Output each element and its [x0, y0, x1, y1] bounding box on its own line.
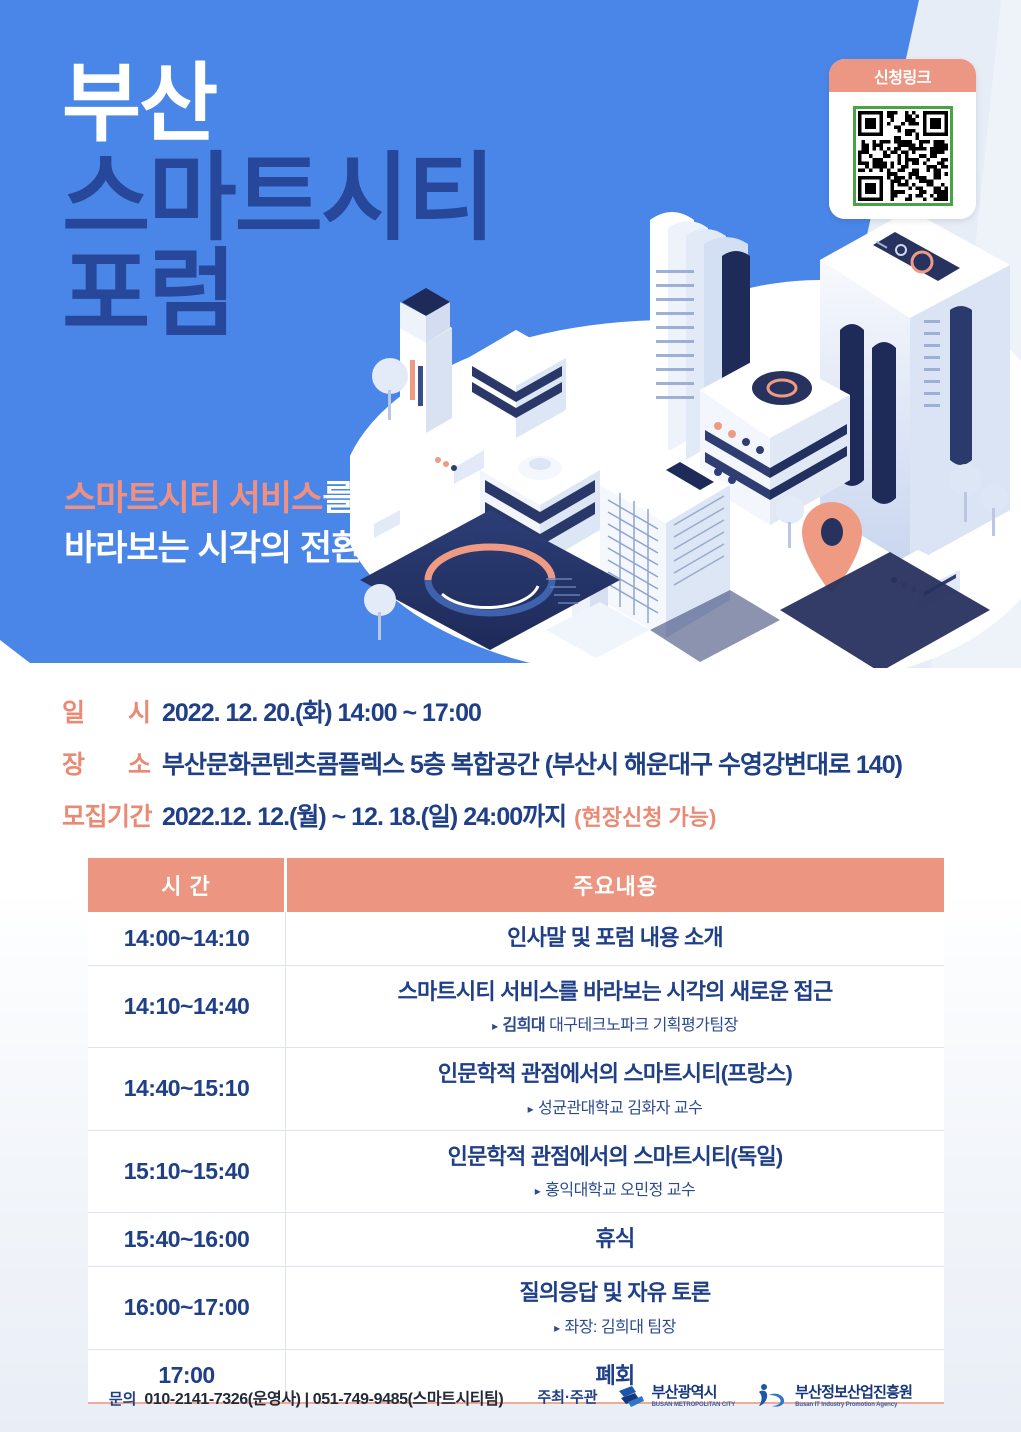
- poster: 부산 스마트시티 포럼 스마트시티 서비스를 바라보는 시각의 전환 신청링크 …: [0, 0, 1021, 1432]
- schedule-topic: 휴식: [292, 1225, 938, 1254]
- poster-title: 부산 스마트시티 포럼: [62, 62, 494, 342]
- schedule-row: 14:10~14:40스마트시티 서비스를 바라보는 시각의 새로운 접근▸ 김…: [88, 965, 944, 1048]
- schedule-cell-content: 휴식: [286, 1213, 945, 1267]
- schedule-topic: 질의응답 및 자유 토론: [292, 1279, 938, 1308]
- title-line-3: 포럼: [62, 248, 494, 342]
- bipa-emblem-icon: [755, 1383, 789, 1410]
- info-row-venue: 장 소 부산문화콘텐츠콤플렉스 5층 복합공간 (부산시 해운대구 수영강변대로…: [62, 745, 962, 781]
- schedule-speaker-affiliation: 홍익대학교 오민정 교수: [545, 1182, 695, 1199]
- subtitle-line-1: 스마트시티 서비스를: [64, 474, 362, 524]
- info-label-registration-period: 모집기간: [62, 797, 162, 833]
- schedule-cell-time: 16:00~17:00: [88, 1266, 286, 1349]
- subtitle-highlight: 스마트시티 서비스: [64, 479, 322, 518]
- info-value-datetime: 2022. 12. 20.(화) 14:00 ~ 17:00: [162, 693, 481, 729]
- schedule-row: 16:00~17:00질의응답 및 자유 토론▸ 좌장: 김희대 팀장: [88, 1266, 944, 1349]
- schedule-cell-content: 인문학적 관점에서의 스마트시티(프랑스)▸ 성균관대학교 김화자 교수: [286, 1048, 945, 1131]
- inquiry-label: 문의: [109, 1388, 137, 1409]
- info-value-venue: 부산문화콘텐츠콤플렉스 5층 복합공간 (부산시 해운대구 수영강변대로 140…: [162, 745, 902, 781]
- bullet-arrow-icon: ▸: [554, 1321, 562, 1335]
- schedule-speaker-affiliation: 성균관대학교 김화자 교수: [538, 1100, 702, 1117]
- schedule-cell-content: 인사말 및 포럼 내용 소개: [286, 912, 945, 965]
- schedule-speaker-name: 김희대: [502, 1017, 549, 1034]
- info-label-venue: 장 소: [62, 745, 162, 781]
- logo-busan-city: 부산광역시 BUSAN METROPOLITAN CITY: [616, 1384, 736, 1410]
- logo-bipa: 부산정보산업진흥원 Busan IT Industry Promotion Ag…: [755, 1383, 912, 1410]
- schedule-cell-time: 15:40~16:00: [88, 1213, 286, 1267]
- logo-busan-city-kr: 부산광역시: [652, 1385, 736, 1400]
- schedule-topic: 스마트시티 서비스를 바라보는 시각의 새로운 접근: [292, 978, 938, 1007]
- schedule-header-content: 주요내용: [286, 858, 945, 912]
- qr-frame: [853, 106, 953, 206]
- info-row-datetime: 일 시 2022. 12. 20.(화) 14:00 ~ 17:00: [62, 693, 962, 729]
- schedule-header-time: 시 간: [88, 858, 286, 912]
- schedule-speaker-affiliation: 좌장: 김희대 팀장: [564, 1319, 675, 1336]
- schedule-speaker-affiliation: 대구테크노파크 기획평가팀장: [549, 1017, 738, 1034]
- qr-code-icon: [858, 111, 948, 201]
- subtitle-particle: 를: [322, 479, 353, 518]
- info-row-registration-period: 모집기간 2022.12. 12.(월) ~ 12. 18.(일) 24:00까…: [62, 797, 962, 833]
- title-line-2: 스마트시티: [62, 152, 494, 246]
- schedule-topic: 인문학적 관점에서의 스마트시티(독일): [292, 1143, 938, 1172]
- schedule-body: 14:00~14:10인사말 및 포럼 내용 소개14:10~14:40스마트시…: [88, 912, 944, 1403]
- logo-bipa-text: 부산정보산업진흥원 Busan IT Industry Promotion Ag…: [795, 1385, 912, 1408]
- subtitle-line-2: 바라보는 시각의 전환: [64, 524, 362, 574]
- logo-busan-city-text: 부산광역시 BUSAN METROPOLITAN CITY: [652, 1385, 736, 1408]
- schedule-topic: 인사말 및 포럼 내용 소개: [292, 924, 938, 953]
- info-value-registration-period: 2022.12. 12.(월) ~ 12. 18.(일) 24:00까지: [162, 797, 566, 833]
- schedule-speaker: ▸ 성균관대학교 김화자 교수: [292, 1094, 938, 1118]
- title-line-1: 부산: [62, 62, 494, 146]
- inquiry-phones: 010-2141-7326(운영사) | 051-749-9485(스마트시티팀…: [144, 1385, 503, 1409]
- organizer-logos: 부산광역시 BUSAN METROPOLITAN CITY 부산정보산업진흥원 …: [616, 1383, 913, 1410]
- info-label-datetime: 일 시: [62, 693, 162, 729]
- qr-badge-body: [829, 92, 976, 219]
- schedule-speaker: ▸ 홍익대학교 오민정 교수: [292, 1176, 938, 1200]
- schedule-cell-content: 질의응답 및 자유 토론▸ 좌장: 김희대 팀장: [286, 1266, 945, 1349]
- info-note-onsite: (현장신청 가능): [574, 800, 716, 832]
- bullet-arrow-icon: ▸: [535, 1184, 543, 1198]
- schedule-row: 15:10~15:40인문학적 관점에서의 스마트시티(독일)▸ 홍익대학교 오…: [88, 1130, 944, 1213]
- busan-city-emblem-icon: [616, 1384, 646, 1410]
- hero-banner: 부산 스마트시티 포럼 스마트시티 서비스를 바라보는 시각의 전환 신청링크: [0, 0, 1021, 668]
- schedule-cell-time: 14:10~14:40: [88, 965, 286, 1048]
- schedule-row: 15:40~16:00휴식: [88, 1213, 944, 1267]
- logo-busan-city-en: BUSAN METROPOLITAN CITY: [652, 1402, 736, 1408]
- logo-bipa-kr: 부산정보산업진흥원: [795, 1385, 912, 1400]
- bullet-arrow-icon: ▸: [492, 1019, 500, 1033]
- registration-qr-badge[interactable]: 신청링크: [829, 59, 976, 219]
- schedule-row: 14:00~14:10인사말 및 포럼 내용 소개: [88, 912, 944, 965]
- poster-subtitle: 스마트시티 서비스를 바라보는 시각의 전환: [64, 474, 362, 573]
- schedule-header-row: 시 간 주요내용: [88, 858, 944, 912]
- qr-badge-header: 신청링크: [829, 59, 976, 92]
- schedule-cell-content: 인문학적 관점에서의 스마트시티(독일)▸ 홍익대학교 오민정 교수: [286, 1130, 945, 1213]
- schedule-cell-time: 14:00~14:10: [88, 912, 286, 965]
- event-info: 일 시 2022. 12. 20.(화) 14:00 ~ 17:00 장 소 부…: [62, 693, 962, 849]
- schedule-table: 시 간 주요내용 14:00~14:10인사말 및 포럼 내용 소개14:10~…: [88, 858, 944, 1404]
- schedule-cell-time: 14:40~15:10: [88, 1048, 286, 1131]
- host-label: 주최·주관: [537, 1386, 597, 1407]
- schedule-topic: 인문학적 관점에서의 스마트시티(프랑스): [292, 1060, 938, 1089]
- poster-footer: 문의 010-2141-7326(운영사) | 051-749-9485(스마트…: [0, 1383, 1021, 1410]
- schedule-cell-content: 스마트시티 서비스를 바라보는 시각의 새로운 접근▸ 김희대 대구테크노파크 …: [286, 965, 945, 1048]
- bullet-arrow-icon: ▸: [528, 1102, 536, 1116]
- schedule-speaker: ▸ 김희대 대구테크노파크 기획평가팀장: [292, 1011, 938, 1035]
- schedule-cell-time: 15:10~15:40: [88, 1130, 286, 1213]
- schedule-speaker: ▸ 좌장: 김희대 팀장: [292, 1313, 938, 1337]
- logo-bipa-en: Busan IT Industry Promotion Agency: [795, 1402, 912, 1408]
- schedule-row: 14:40~15:10인문학적 관점에서의 스마트시티(프랑스)▸ 성균관대학교…: [88, 1048, 944, 1131]
- inquiry-block: 문의 010-2141-7326(운영사) | 051-749-9485(스마트…: [109, 1385, 504, 1409]
